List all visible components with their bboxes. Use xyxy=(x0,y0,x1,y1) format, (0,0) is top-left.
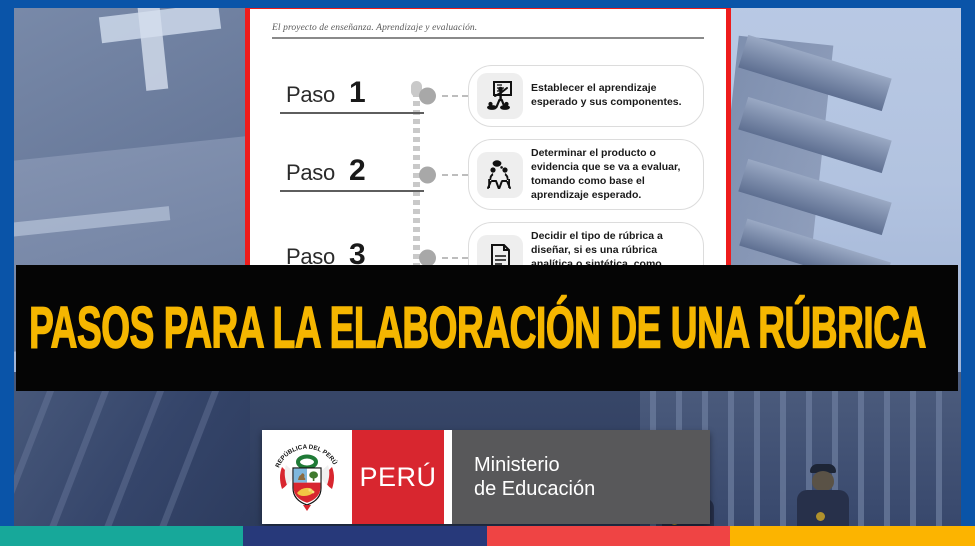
color-segment-yellow xyxy=(730,526,975,546)
color-segment-teal xyxy=(0,526,243,546)
step-word: Paso xyxy=(286,160,335,186)
step-word: Paso xyxy=(286,82,335,108)
step-text: Establecer el aprendizaje esperado y sus… xyxy=(531,82,691,110)
poster-frame-top xyxy=(0,0,975,8)
step-bubble: Establecer el aprendizaje esperado y sus… xyxy=(468,65,704,127)
step-text: Determinar el producto o evidencia que s… xyxy=(531,147,691,202)
poster-title: PASOS PARA LA ELABORACIÓN DE UNA RÚBRICA xyxy=(16,294,926,362)
teacher-at-board-icon xyxy=(477,73,523,119)
step-connector xyxy=(442,257,468,259)
step-label: Paso 2 xyxy=(272,157,420,192)
step-connector xyxy=(442,174,468,176)
timeline-node xyxy=(419,166,436,183)
logo-divider xyxy=(444,430,452,524)
timeline-node-wrap xyxy=(420,65,442,127)
title-band: PASOS PARA LA ELABORACIÓN DE UNA RÚBRICA xyxy=(16,265,958,391)
ministry-line-2: de Educación xyxy=(474,477,710,501)
step-row: Paso 1 xyxy=(272,65,704,127)
step-connector xyxy=(442,95,468,97)
timeline-node xyxy=(419,88,436,105)
ministry-name: Ministerio de Educación xyxy=(452,430,710,524)
minedu-logo: REPÚBLICA DEL PERÚ xyxy=(262,430,710,524)
document-header-rule xyxy=(272,37,704,39)
peru-coat-of-arms: REPÚBLICA DEL PERÚ xyxy=(262,430,352,524)
step-underline xyxy=(280,190,424,192)
step-bubble: Determinar el producto o evidencia que s… xyxy=(468,139,704,210)
step-number: 1 xyxy=(349,79,366,106)
poster-frame-left xyxy=(0,0,14,546)
step-row: Paso 2 xyxy=(272,139,704,210)
two-people-talking-icon xyxy=(477,152,523,198)
step-number: 3 xyxy=(349,241,366,268)
color-segment-red xyxy=(487,526,730,546)
step-label: Paso 1 xyxy=(272,79,420,114)
document-header-text: El proyecto de enseñanza. Aprendizaje y … xyxy=(272,23,704,37)
bottom-color-bar xyxy=(0,526,975,546)
ministry-line-1: Ministerio xyxy=(474,453,710,477)
step-underline xyxy=(280,112,424,114)
timeline-node-wrap xyxy=(420,144,442,206)
color-segment-blue xyxy=(243,526,487,546)
step-number: 2 xyxy=(349,157,366,184)
poster-frame-right xyxy=(961,0,975,546)
poster-canvas: El proyecto de enseñanza. Aprendizaje y … xyxy=(0,0,975,546)
peru-wordmark: PERÚ xyxy=(352,430,444,524)
